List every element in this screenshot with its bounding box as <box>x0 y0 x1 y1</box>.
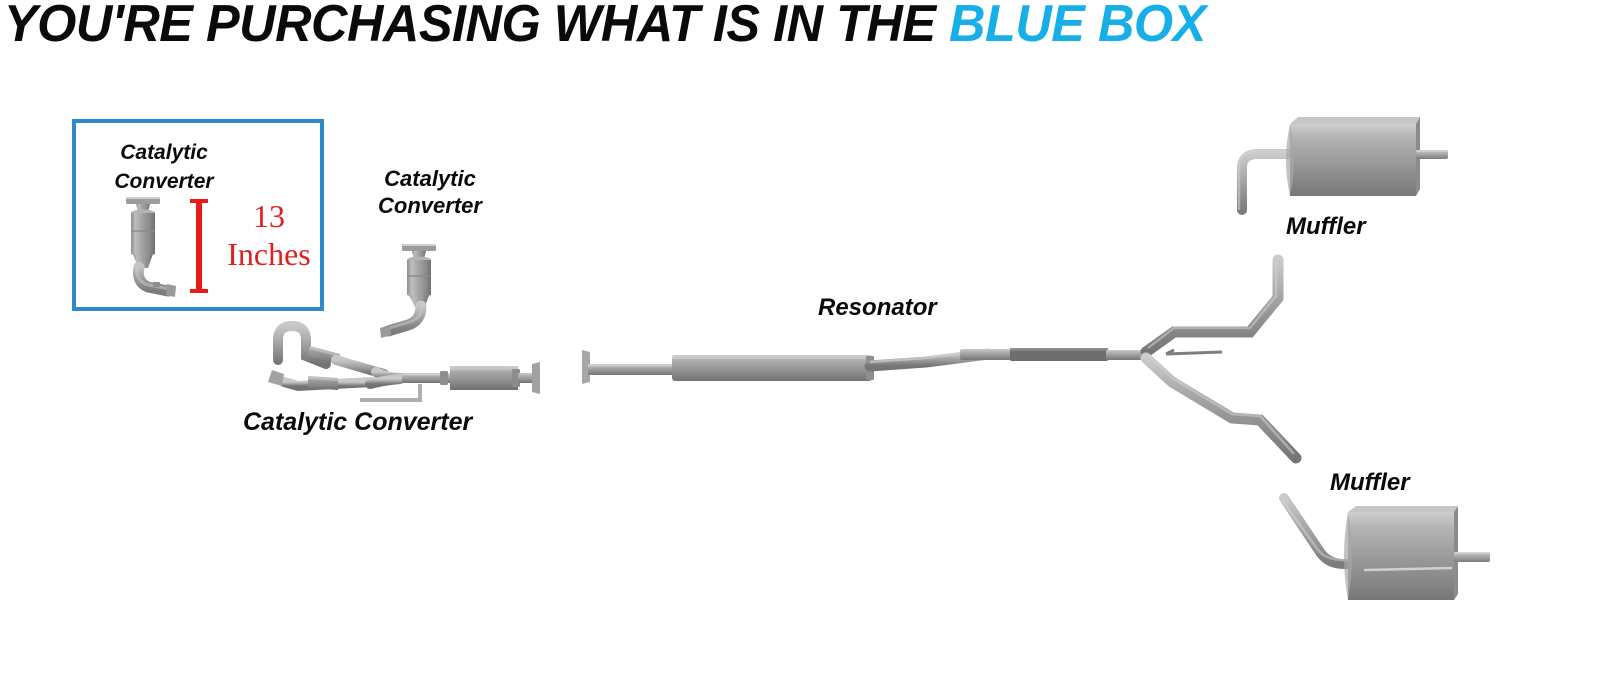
page-title-accent: BLUE BOX <box>949 0 1206 53</box>
catalytic-converter-single-label: Catalytic Converter <box>345 166 515 220</box>
boxed-part-label: Catalytic Converter <box>84 138 244 196</box>
rear-y-split-art <box>960 258 1300 470</box>
resonator-art <box>576 338 996 394</box>
catalytic-converter-boxed-art <box>112 196 192 298</box>
muffler-upper-label: Muffler <box>1286 212 1446 241</box>
page-title-main: YOU'RE PURCHASING WHAT IS IN THE <box>4 0 949 53</box>
exhaust-system-diagram: YOU'RE PURCHASING WHAT IS IN THE BLUE BO… <box>0 0 1600 685</box>
page-title: YOU'RE PURCHASING WHAT IS IN THE BLUE BO… <box>4 0 1552 52</box>
muffler-upper-art <box>1228 106 1448 216</box>
dimension-text: 13 Inches <box>210 197 328 273</box>
dimension-unit: Inches <box>210 235 328 273</box>
dimension-cap-bottom <box>190 289 208 293</box>
dimension-line <box>190 199 208 293</box>
catalytic-converter-assembly-art <box>252 312 542 412</box>
muffler-lower-art <box>1276 482 1496 607</box>
dimension-bar <box>196 199 202 293</box>
dimension-value: 13 <box>210 197 328 235</box>
